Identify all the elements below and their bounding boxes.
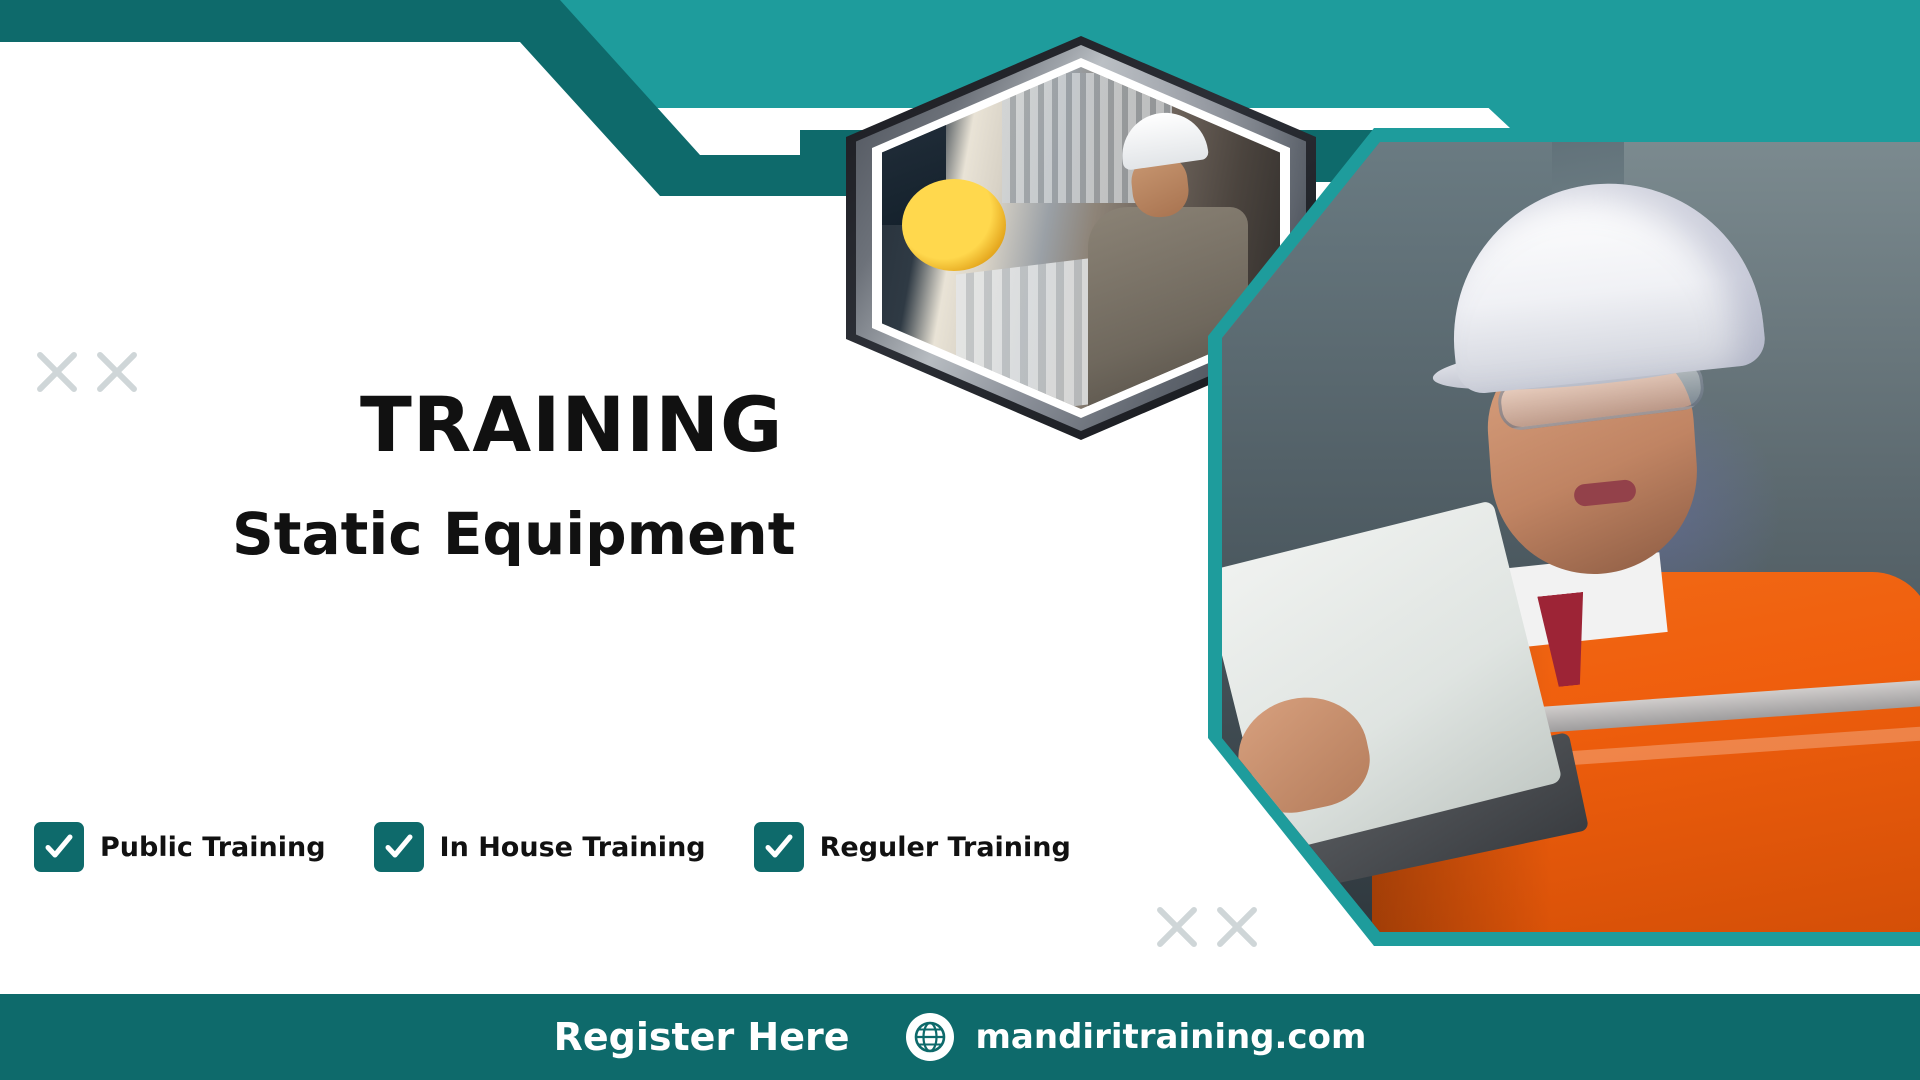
footer-bar: Register Here mandiritraining.com <box>0 994 1920 1080</box>
x-decoration-bottom <box>1150 900 1264 954</box>
page-subtitle: Static Equipment <box>232 500 795 568</box>
globe-icon <box>906 1013 954 1061</box>
training-option-label: Reguler Training <box>820 832 1071 863</box>
checkbox-checked-icon[interactable] <box>374 822 424 872</box>
photo-yellow-equipment <box>902 179 1006 271</box>
list-item[interactable]: Public Training <box>34 822 326 872</box>
x-mark-icon <box>1210 900 1264 954</box>
top-right-corner-block <box>1660 0 1920 130</box>
training-option-label: In House Training <box>440 832 706 863</box>
training-option-label: Public Training <box>100 832 326 863</box>
list-item[interactable]: In House Training <box>374 822 706 872</box>
x-mark-icon <box>1150 900 1204 954</box>
x-decoration-left <box>30 345 144 399</box>
list-item[interactable]: Reguler Training <box>754 822 1071 872</box>
training-options-list: Public Training In House Training Regule… <box>34 822 1119 872</box>
right-photo <box>1222 142 1920 932</box>
x-mark-icon <box>30 345 84 399</box>
register-here-label: Register Here <box>554 1015 850 1059</box>
poster-canvas: TRAINING Static Equipment Public Trainin… <box>0 0 1920 1080</box>
x-mark-icon <box>90 345 144 399</box>
checkbox-checked-icon[interactable] <box>34 822 84 872</box>
checkbox-checked-icon[interactable] <box>754 822 804 872</box>
page-title: TRAINING <box>360 380 783 469</box>
website-url[interactable]: mandiritraining.com <box>976 1017 1367 1057</box>
